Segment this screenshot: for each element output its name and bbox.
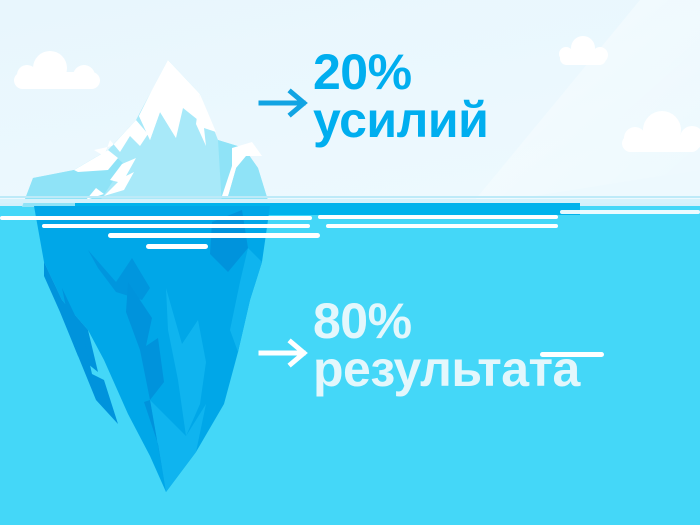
waterline-band-top: [0, 199, 700, 203]
illustration-canvas: 20% усилий 80% результата: [0, 0, 700, 525]
ripple-line: [560, 210, 700, 214]
waterline-band-thin: [0, 196, 700, 198]
ripple-line: [42, 224, 310, 228]
result-percent: 80%: [313, 297, 580, 345]
ripple-line: [146, 244, 208, 249]
ripple-line: [326, 224, 558, 228]
effort-percent: 20%: [313, 48, 488, 96]
ripple-line: [108, 233, 320, 238]
effort-word: усилий: [313, 96, 488, 144]
result-label-block: 80% результата: [313, 297, 580, 393]
ripple-line: [318, 215, 558, 219]
ripple-line: [0, 216, 312, 220]
result-word: результата: [313, 345, 580, 393]
effort-label-block: 20% усилий: [313, 48, 488, 144]
